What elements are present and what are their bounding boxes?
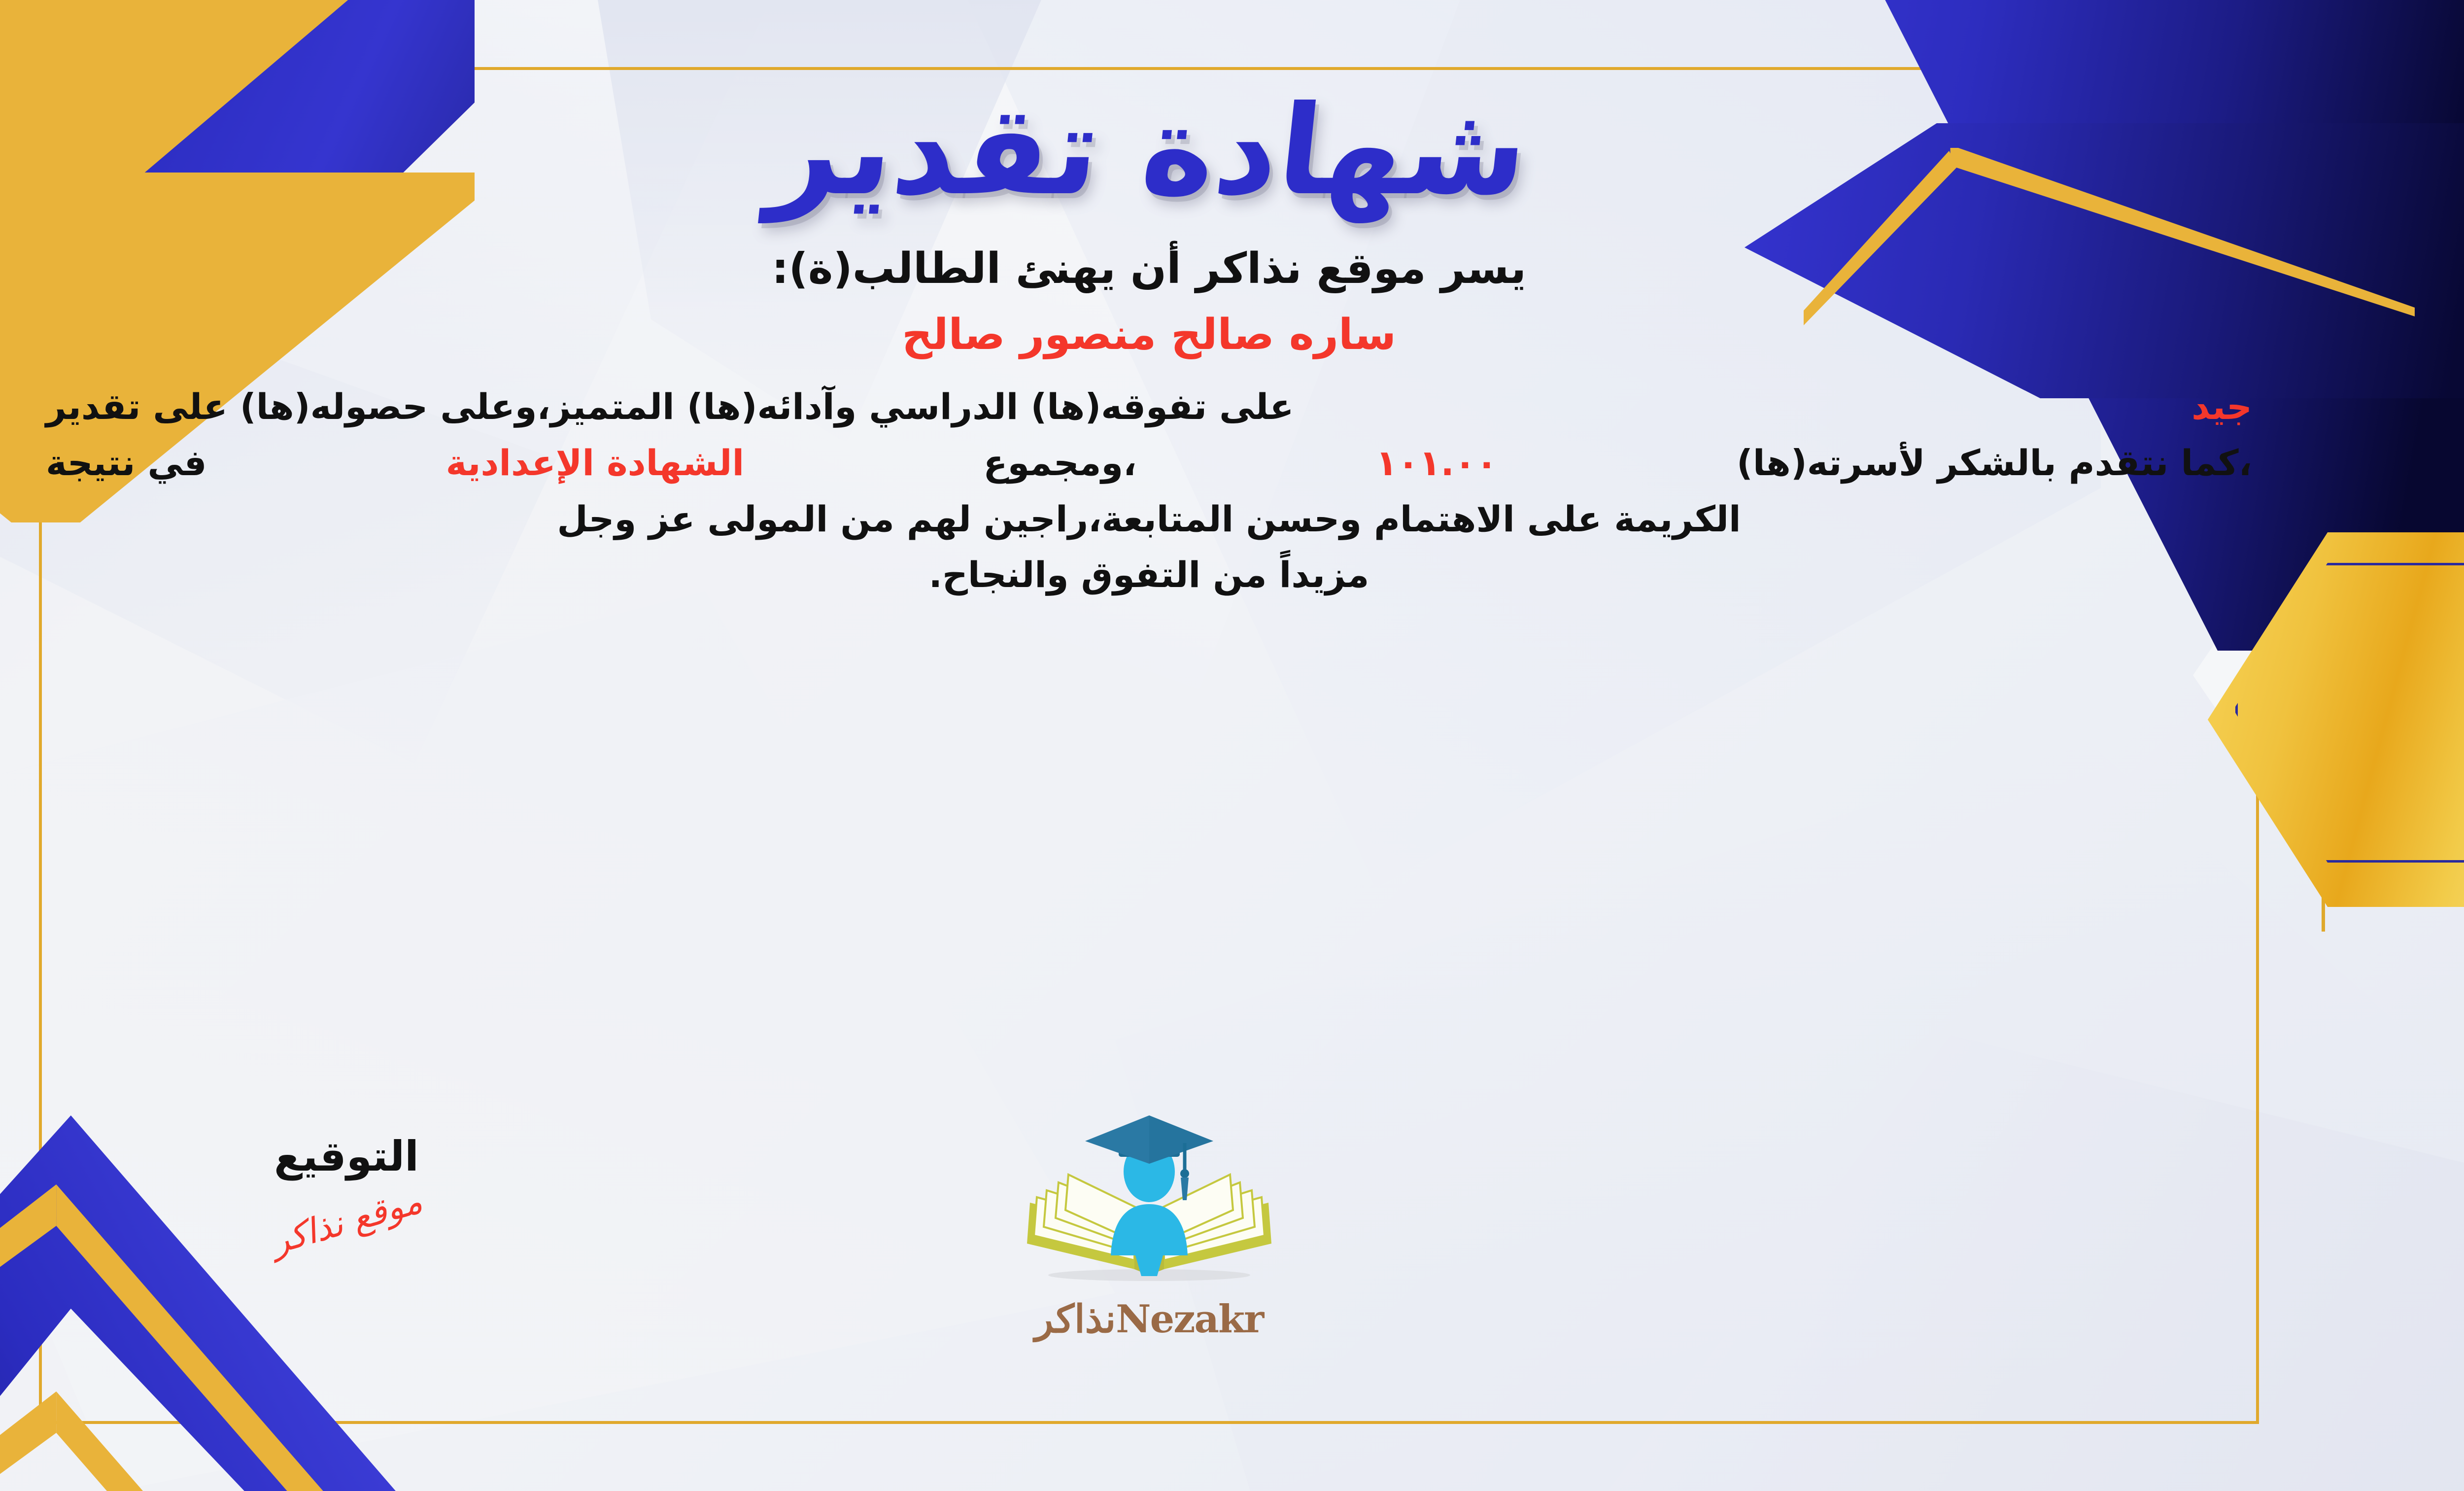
body-line-4: ،كما نتقدم بالشكر لأسرته(ها) ١٠١.٠٠ ،ومج…	[46, 435, 2252, 491]
signature-block: التوقيع موقع نذاكر	[194, 1132, 499, 1242]
certificate-content: شهادة تقدير يسر موقع نذاكر أن يهنئ الطال…	[46, 74, 2252, 1417]
certificate-title: شهادة تقدير	[764, 88, 1534, 213]
graduate-book-icon	[1011, 1112, 1287, 1295]
line4-start-text: في نتيجة	[46, 435, 206, 491]
total-label: ،ومجموع	[983, 435, 1136, 491]
signature-label: التوقيع	[194, 1132, 499, 1180]
body-line-6: مزيداً من التفوق والنجاح.	[46, 547, 2252, 603]
body-line-5: الكريمة على الاهتمام وحسن المتابعة،راجين…	[46, 491, 2252, 548]
certificate-type-value: الشهادة الإعدادية	[446, 435, 744, 491]
body-line-3-text: على تفوقه(ها) الدراسي وآدائه(ها) المتميز…	[46, 379, 1294, 435]
signature-mark: موقع نذاكر	[267, 1180, 427, 1262]
intro-line: يسر موقع نذاكر أن يهنئ الطالب(ة):	[772, 244, 1526, 293]
logo-wordmark: Nezakrنذاكر	[1011, 1297, 1287, 1342]
nezakr-logo: Nezakrنذاكر	[1011, 1112, 1287, 1342]
line4-end-text: ،كما نتقدم بالشكر لأسرته(ها)	[1737, 435, 2252, 491]
grade-value: جيد	[2191, 379, 2252, 435]
certificate-footer: التوقيع موقع نذاكر	[46, 1103, 2252, 1408]
total-score-value: ١٠١.٠٠	[1376, 435, 1498, 491]
certificate-body: جيد على تفوقه(ها) الدراسي وآدائه(ها) الم…	[46, 379, 2252, 603]
certificate-page: شهادة تقدير يسر موقع نذاكر أن يهنئ الطال…	[0, 0, 2464, 1491]
body-line-3: جيد على تفوقه(ها) الدراسي وآدائه(ها) الم…	[46, 379, 2252, 435]
student-name: ساره صالح منصور صالح	[902, 310, 1396, 359]
